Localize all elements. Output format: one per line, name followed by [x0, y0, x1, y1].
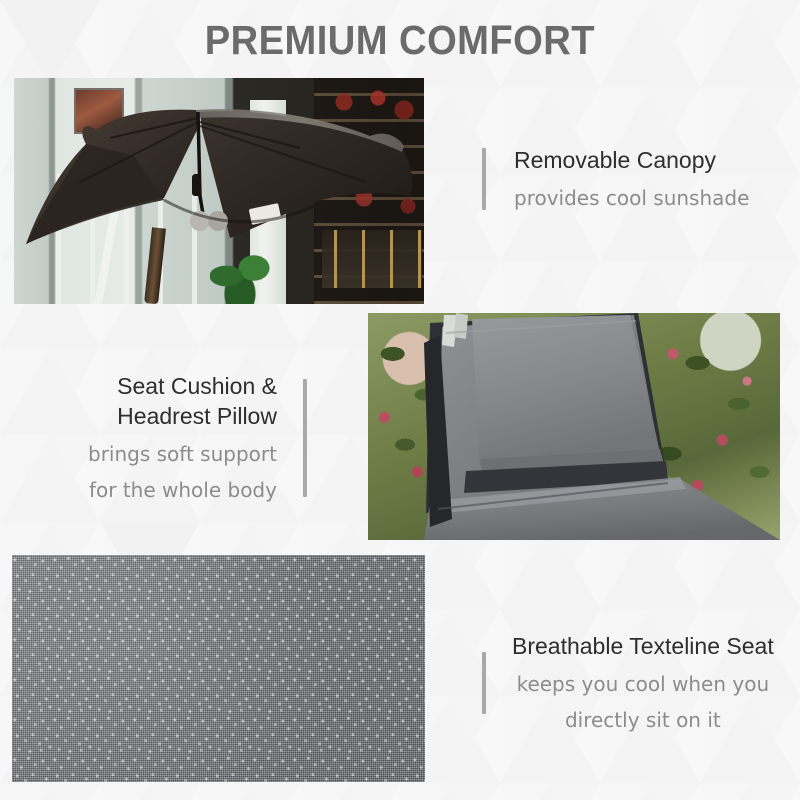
feature-fabric-text: Breathable Texteline Seat keeps you cool… — [512, 632, 774, 733]
feature-cushion-subtitle-line-1: brings soft support — [88, 441, 277, 468]
photo-seat-cushion — [368, 313, 780, 540]
accent-bar-fabric — [482, 652, 486, 714]
page-title-text: PREMIUM COMFORT — [205, 20, 595, 61]
infographic-canvas: PREMIUM COMFORT — [0, 0, 800, 800]
feature-canopy-title: Removable Canopy — [514, 146, 716, 176]
feature-cushion-subtitle-line-2: for the whole body — [89, 477, 277, 504]
cushion-lounger-shape — [368, 313, 780, 540]
feature-removable-canopy: Removable Canopy provides cool sunshade — [482, 146, 749, 212]
accent-bar-cushion — [303, 379, 307, 497]
fabric-speckle-highlights — [12, 555, 425, 782]
feature-cushion-title-line-2: Headrest Pillow — [117, 402, 277, 432]
accent-bar-canopy — [482, 148, 486, 210]
feature-seat-cushion: Seat Cushion & Headrest Pillow brings so… — [88, 372, 307, 503]
photo-removable-canopy — [14, 78, 424, 304]
photo-texteline-fabric — [12, 555, 425, 782]
feature-cushion-title-line-1: Seat Cushion & — [117, 372, 277, 402]
feature-fabric-title: Breathable Texteline Seat — [512, 632, 774, 662]
feature-canopy-subtitle: provides cool sunshade — [514, 185, 749, 212]
page-title: PREMIUM COMFORT — [0, 12, 800, 68]
feature-fabric-subtitle-line-1: keeps you cool when you — [517, 671, 770, 698]
feature-canopy-text: Removable Canopy provides cool sunshade — [514, 146, 749, 212]
feature-fabric-subtitle-line-2: directly sit on it — [565, 707, 721, 734]
canopy-umbrella-shape — [14, 78, 424, 304]
feature-breathable-seat: Breathable Texteline Seat keeps you cool… — [482, 632, 774, 733]
feature-cushion-text: Seat Cushion & Headrest Pillow brings so… — [88, 372, 277, 503]
